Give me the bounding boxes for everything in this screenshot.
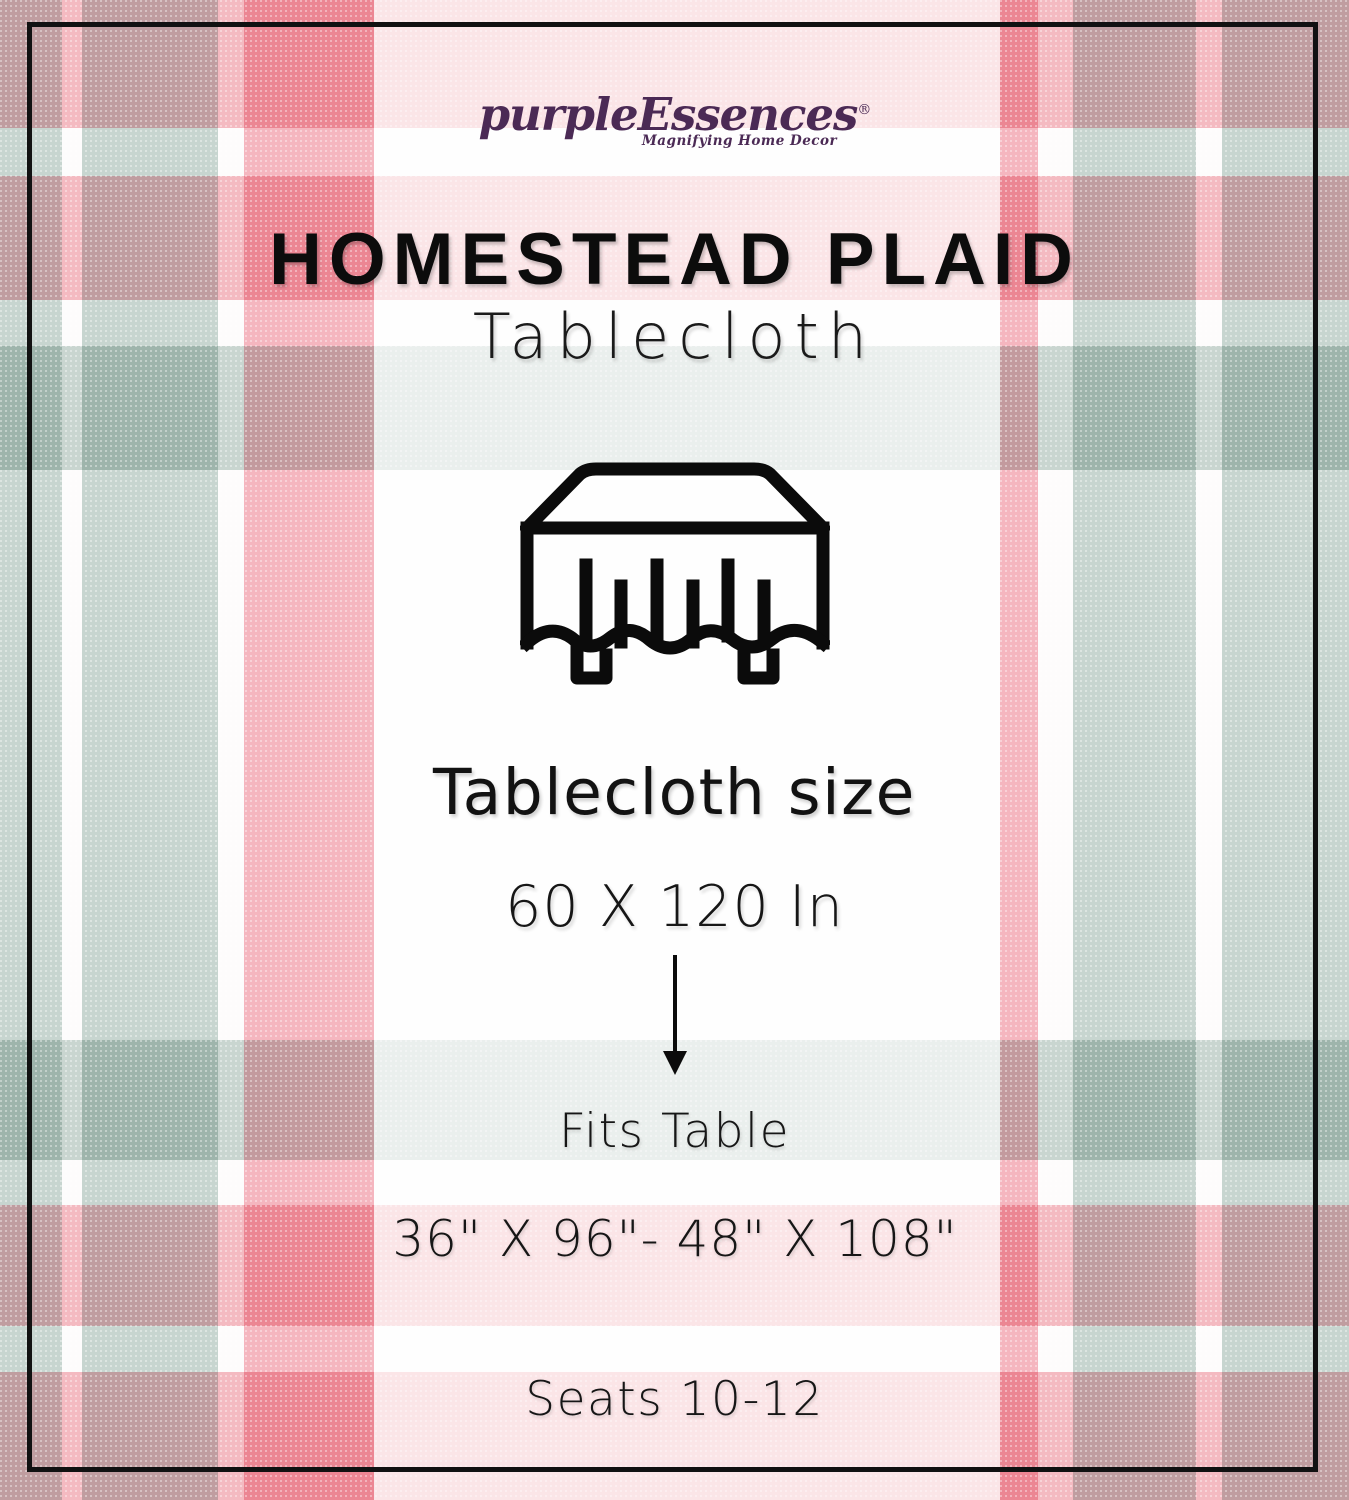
seats-capacity: Seats 10-12 [0, 1372, 1349, 1427]
tablecloth-size-label: Tablecloth size [0, 756, 1349, 829]
tablecloth-size-value: 60 X 120 In [0, 874, 1349, 940]
brand-wordmark: purpleEssences® [479, 92, 871, 137]
brand-logo: purpleEssences® Magnifying Home Decor [0, 92, 1349, 149]
tablecloth-icon-container [0, 462, 1349, 692]
product-infographic: purpleEssences® Magnifying Home Decor HO… [0, 0, 1349, 1500]
content-column: purpleEssences® Magnifying Home Decor HO… [0, 0, 1349, 1500]
fits-table-label: Fits Table [0, 1104, 1349, 1159]
tablecloth-icon [520, 462, 830, 692]
brand-name: purpleEssences [479, 88, 858, 141]
page-title: HOMESTEAD PLAID [0, 218, 1349, 301]
down-arrow-icon [655, 955, 695, 1077]
page-subtitle: Tablecloth [0, 300, 1349, 373]
registered-trademark-icon: ® [857, 102, 870, 118]
down-arrow-container [0, 955, 1349, 1077]
fits-table-value: 36" X 96"- 48" X 108" [255, 1210, 1095, 1269]
